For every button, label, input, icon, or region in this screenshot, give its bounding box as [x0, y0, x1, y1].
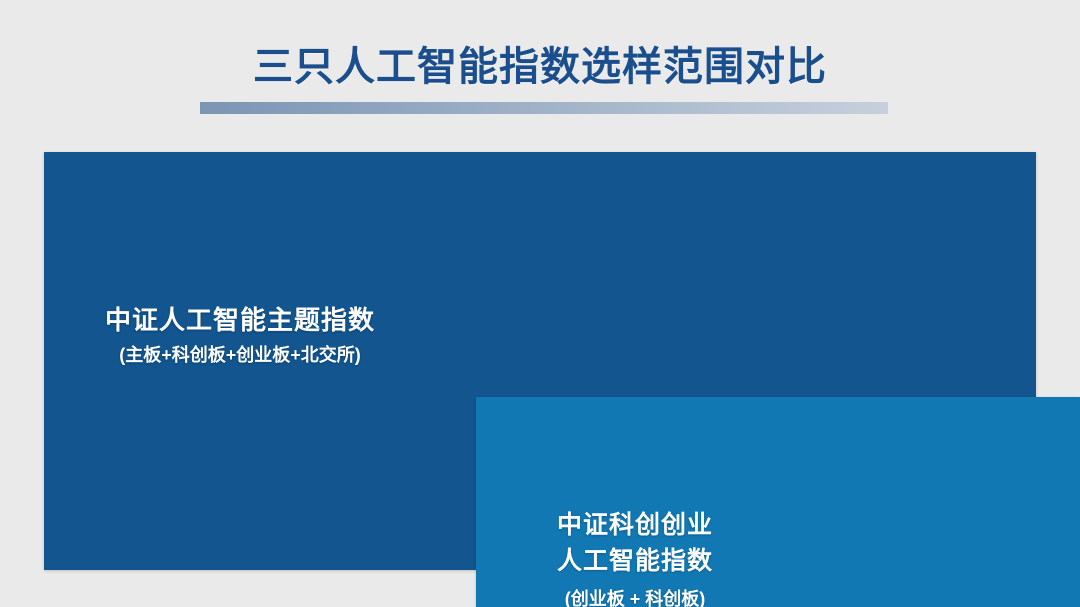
index-name-line-2-level-2: 人工智能指数	[476, 543, 794, 579]
index-scope-level-1: (主板+科创板+创业板+北交所)	[44, 341, 436, 367]
index-label-block-level-2: 中证科创创业 人工智能指数 (创业板 + 科创板)	[476, 507, 794, 607]
index-name-line-1-level-1: 中证人工智能主题指数	[44, 304, 436, 337]
page-title: 三只人工智能指数选样范围对比	[253, 44, 827, 90]
slide-canvas: 三只人工智能指数选样范围对比 中证人工智能主题指数 (主板+科创板+创业板+北交…	[0, 0, 1080, 607]
title-underline-bar	[200, 102, 888, 114]
index-scope-box-level-2: 中证科创创业 人工智能指数 (创业板 + 科创板) 上证科创板 人工智能指数 (…	[476, 397, 1080, 607]
index-scope-level-2: (创业板 + 科创板)	[476, 585, 794, 607]
page-title-container: 三只人工智能指数选样范围对比	[0, 44, 1080, 90]
index-scope-box-level-1: 中证人工智能主题指数 (主板+科创板+创业板+北交所) 中证科创创业 人工智能指…	[44, 152, 1036, 570]
index-name-line-1-level-2: 中证科创创业	[476, 507, 794, 543]
index-label-block-level-1: 中证人工智能主题指数 (主板+科创板+创业板+北交所)	[44, 304, 436, 367]
